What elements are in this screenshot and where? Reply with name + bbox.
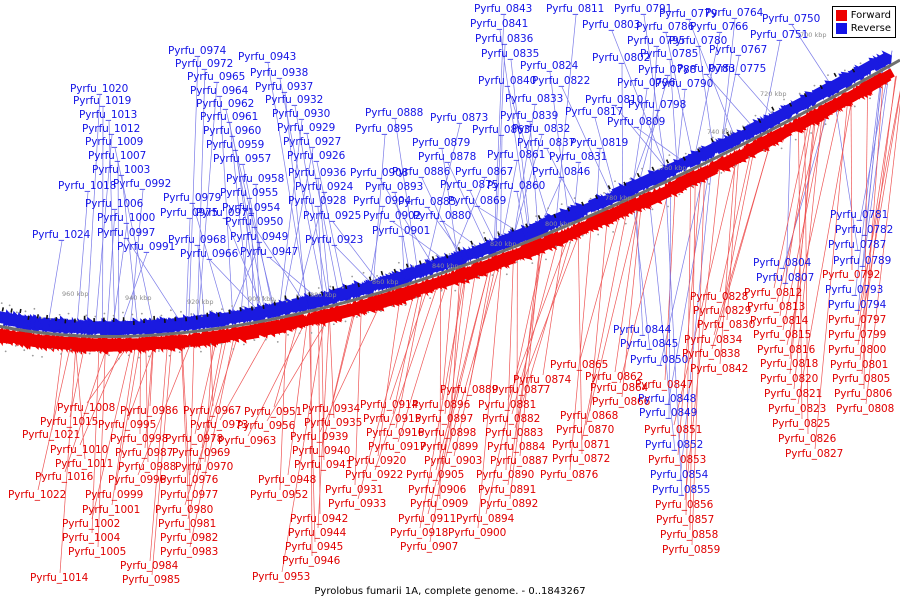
gene-label[interactable]: Pyrfu_0962 (196, 99, 254, 110)
minor-feature-dot (492, 274, 494, 276)
gene-label[interactable]: Pyrfu_0837 (517, 138, 575, 149)
minor-feature-dot (535, 215, 537, 217)
gene-label[interactable]: Pyrfu_0911 (398, 514, 456, 525)
gene-label[interactable]: Pyrfu_0935 (304, 418, 362, 429)
gene-label[interactable]: Pyrfu_0826 (778, 434, 836, 445)
gene-label[interactable]: Pyrfu_0929 (277, 123, 335, 134)
label-leader-line (402, 237, 404, 273)
gene-label[interactable]: Pyrfu_0979 (163, 193, 221, 204)
gene-label[interactable]: Pyrfu_0842 (690, 364, 748, 375)
gene-label[interactable]: Pyrfu_0895 (355, 124, 413, 135)
gene-label[interactable]: Pyrfu_0857 (656, 515, 714, 526)
minor-feature-dot (50, 318, 52, 320)
gene-label[interactable]: Pyrfu_1022 (8, 490, 66, 501)
gene-label[interactable]: Pyrfu_0882 (482, 414, 540, 425)
gene-label[interactable]: Pyrfu_0981 (158, 519, 216, 530)
gene-label[interactable]: Pyrfu_1024 (32, 230, 90, 241)
minor-feature-dot (89, 353, 91, 355)
label-leader-line (543, 240, 563, 375)
gene-label[interactable]: Pyrfu_0870 (556, 425, 614, 436)
gene-label[interactable]: Pyrfu_1021 (22, 430, 80, 441)
gene-label[interactable]: Pyrfu_0940 (292, 446, 350, 457)
gene-label[interactable]: Pyrfu_0898 (418, 428, 476, 439)
gene-label[interactable]: Pyrfu_0798 (628, 100, 686, 111)
gene-label[interactable]: Pyrfu_1011 (55, 459, 113, 470)
gene-label[interactable]: Pyrfu_0841 (470, 19, 528, 30)
gene-label[interactable]: Pyrfu_0970 (175, 462, 233, 473)
gene-label[interactable]: Pyrfu_0918 (390, 528, 448, 539)
gene-label[interactable]: Pyrfu_0782 (835, 225, 893, 236)
minor-feature-dot (678, 193, 680, 195)
gene-label[interactable]: Pyrfu_0805 (832, 374, 890, 385)
gene-label[interactable]: Pyrfu_0905 (406, 470, 464, 481)
gene-label[interactable]: Pyrfu_0987 (115, 448, 173, 459)
gene-label[interactable]: Pyrfu_0814 (750, 316, 808, 327)
gene-label[interactable]: Pyrfu_0808 (836, 404, 894, 415)
gene-label[interactable]: Pyrfu_0900 (448, 528, 506, 539)
gene-label[interactable]: Pyrfu_0839 (500, 111, 558, 122)
gene-label[interactable]: Pyrfu_0891 (478, 485, 536, 496)
gene-label[interactable]: Pyrfu_0831 (549, 152, 607, 163)
gene-label[interactable]: Pyrfu_0983 (160, 547, 218, 558)
label-leader-line (77, 192, 88, 324)
gene-label[interactable]: Pyrfu_0932 (265, 95, 323, 106)
backbone-tick-mark (285, 296, 286, 300)
gene-label[interactable]: Pyrfu_0794 (828, 300, 886, 311)
gene-label[interactable]: Pyrfu_0852 (645, 440, 703, 451)
minor-feature-dot (321, 327, 323, 329)
gene-label[interactable]: Pyrfu_0854 (650, 470, 708, 481)
gene-label[interactable]: Pyrfu_0956 (237, 421, 295, 432)
minor-feature-dot (795, 139, 797, 141)
gene-label[interactable]: Pyrfu_0952 (250, 490, 308, 501)
gene-label[interactable]: Pyrfu_0800 (828, 345, 886, 356)
gene-label[interactable]: Pyrfu_0925 (303, 211, 361, 222)
gene-label[interactable]: Pyrfu_0871 (552, 440, 610, 451)
minor-feature-dot (221, 308, 223, 310)
gene-label[interactable]: Pyrfu_0986 (120, 406, 178, 417)
minor-feature-dot (1, 302, 3, 304)
legend-reverse-label: Reverse (851, 23, 891, 35)
genome-map-canvas: 680 kbp700 kbp720 kbp740 kbp760 kbp780 k… (0, 0, 900, 600)
gene-label[interactable]: Pyrfu_0792 (822, 270, 880, 281)
gene-label[interactable]: Pyrfu_0803 (582, 20, 640, 31)
reverse-swatch-icon (836, 23, 847, 34)
gene-label[interactable]: Pyrfu_0966 (180, 249, 238, 260)
gene-label[interactable]: Pyrfu_0809 (607, 117, 665, 128)
gene-label[interactable]: Pyrfu_0928 (288, 196, 346, 207)
gene-label[interactable]: Pyrfu_0951 (244, 407, 302, 418)
gene-label[interactable]: Pyrfu_0823 (768, 404, 826, 415)
gene-label[interactable]: Pyrfu_0883 (485, 428, 543, 439)
gene-label[interactable]: Pyrfu_0931 (325, 485, 383, 496)
gene-label[interactable]: Pyrfu_0867 (455, 167, 513, 178)
minor-feature-dot (720, 172, 722, 174)
gene-label[interactable]: Pyrfu_0958 (226, 174, 284, 185)
gene-label[interactable]: Pyrfu_0793 (825, 285, 883, 296)
gene-label[interactable]: Pyrfu_0789 (833, 256, 891, 267)
gene-label[interactable]: Pyrfu_0853 (648, 455, 706, 466)
gene-label[interactable]: Pyrfu_0838 (682, 349, 740, 360)
gene-label[interactable]: Pyrfu_0781 (830, 210, 888, 221)
gene-label[interactable]: Pyrfu_0930 (272, 109, 330, 120)
gene-label[interactable]: Pyrfu_0750 (762, 14, 820, 25)
gene-label[interactable]: Pyrfu_0901 (372, 226, 430, 237)
gene-label[interactable]: Pyrfu_1004 (62, 533, 120, 544)
minor-feature-dot (98, 351, 100, 353)
gene-label[interactable]: Pyrfu_0968 (168, 235, 226, 246)
gene-label[interactable]: Pyrfu_1003 (92, 165, 150, 176)
gene-label[interactable]: Pyrfu_0840 (478, 76, 536, 87)
gene-label[interactable]: Pyrfu_0797 (828, 315, 886, 326)
gene-label[interactable]: Pyrfu_0974 (168, 46, 226, 57)
backbone-tick-mark (345, 285, 346, 289)
gene-label[interactable]: Pyrfu_0766 (690, 22, 748, 33)
axis-tick-label: 960 kbp (62, 290, 89, 298)
gene-label[interactable]: Pyrfu_0832 (512, 124, 570, 135)
gene-label[interactable]: Pyrfu_0851 (644, 425, 702, 436)
minor-feature-dot (465, 279, 467, 281)
gene-label[interactable]: Pyrfu_0861 (487, 150, 545, 161)
gene-label[interactable]: Pyrfu_0969 (172, 448, 230, 459)
gene-label[interactable]: Pyrfu_0957 (213, 154, 271, 165)
axis-tick-label: 780 kbp (605, 194, 632, 202)
gene-label[interactable]: Pyrfu_0996 (108, 475, 166, 486)
gene-label[interactable]: Pyrfu_0965 (187, 72, 245, 83)
minor-feature-dot (474, 245, 476, 247)
minor-feature-dot (854, 106, 856, 108)
backbone-tick-mark (381, 271, 382, 275)
gene-label[interactable]: Pyrfu_0924 (295, 182, 353, 193)
minor-feature-dot (625, 223, 627, 225)
gene-label[interactable]: Pyrfu_0988 (118, 462, 176, 473)
gene-label[interactable]: Pyrfu_0888 (365, 108, 423, 119)
gene-label[interactable]: Pyrfu_0787 (828, 240, 886, 251)
axis-tick-label: 840 kbp (432, 262, 459, 270)
minor-feature-dot (398, 262, 400, 264)
gene-label[interactable]: Pyrfu_0804 (753, 258, 811, 269)
gene-label[interactable]: Pyrfu_0998 (110, 434, 168, 445)
gene-label[interactable]: Pyrfu_0859 (662, 545, 720, 556)
gene-label[interactable]: Pyrfu_0846 (532, 167, 590, 178)
backbone-tick-mark (297, 296, 298, 300)
gene-label[interactable]: Pyrfu_0943 (238, 52, 296, 63)
gene-label[interactable]: Pyrfu_0827 (785, 449, 843, 460)
gene-label[interactable]: Pyrfu_0999 (85, 490, 143, 501)
label-leader-line (443, 222, 478, 248)
gene-label[interactable]: Pyrfu_0834 (684, 335, 742, 346)
gene-label[interactable]: Pyrfu_0884 (487, 442, 545, 453)
minor-feature-dot (483, 232, 485, 234)
gene-label[interactable]: Pyrfu_0836 (475, 34, 533, 45)
gene-label[interactable]: Pyrfu_0953 (252, 572, 310, 583)
minor-feature-dot (122, 312, 124, 314)
minor-feature-dot (735, 165, 737, 167)
minor-feature-dot (454, 290, 456, 292)
gene-label[interactable]: Pyrfu_0950 (225, 217, 283, 228)
minor-feature-dot (179, 351, 181, 353)
minor-feature-dot (506, 273, 508, 275)
gene-label[interactable]: Pyrfu_0869 (448, 196, 506, 207)
gene-label[interactable]: Pyrfu_0824 (520, 61, 578, 72)
gene-label[interactable]: Pyrfu_0847 (635, 380, 693, 391)
gene-label[interactable]: Pyrfu_0801 (830, 360, 888, 371)
gene-label[interactable]: Pyrfu_0991 (117, 242, 175, 253)
gene-label[interactable]: Pyrfu_0942 (290, 514, 348, 525)
gene-label[interactable]: Pyrfu_0955 (220, 188, 278, 199)
gene-label[interactable]: Pyrfu_1015 (40, 417, 98, 428)
gene-label[interactable]: Pyrfu_0923 (305, 235, 363, 246)
gene-label[interactable]: Pyrfu_0828 (690, 292, 748, 303)
minor-feature-dot (376, 275, 378, 277)
minor-feature-dot (274, 300, 276, 302)
minor-feature-dot (94, 316, 96, 318)
gene-label[interactable]: Pyrfu_0934 (302, 404, 360, 415)
gene-label[interactable]: Pyrfu_0977 (160, 490, 218, 501)
minor-feature-dot (612, 231, 614, 233)
gene-label[interactable]: Pyrfu_0835 (481, 49, 539, 60)
gene-label[interactable]: Pyrfu_0880 (413, 211, 471, 222)
gene-label[interactable]: Pyrfu_0976 (160, 475, 218, 486)
gene-label[interactable]: Pyrfu_1009 (85, 137, 143, 148)
minor-feature-dot (531, 262, 533, 264)
gene-label[interactable]: Pyrfu_1018 (58, 181, 116, 192)
gene-label[interactable]: Pyrfu_0963 (218, 436, 276, 447)
minor-feature-dot (561, 203, 563, 205)
backbone-tick-mark (240, 307, 241, 311)
gene-label[interactable]: Pyrfu_0764 (705, 8, 763, 19)
gene-label[interactable]: Pyrfu_0917 (368, 442, 426, 453)
gene-label[interactable]: Pyrfu_0995 (98, 420, 156, 431)
gene-label[interactable]: Pyrfu_0978 (165, 434, 223, 445)
backbone-tick-mark (772, 107, 774, 111)
minor-feature-dot (286, 301, 288, 303)
minor-feature-dot (614, 180, 616, 182)
gene-label[interactable]: Pyrfu_1019 (73, 96, 131, 107)
gene-label[interactable]: Pyrfu_0865 (550, 360, 608, 371)
gene-label[interactable]: Pyrfu_0873 (430, 113, 488, 124)
gene-label[interactable]: Pyrfu_0920 (348, 456, 406, 467)
gene-label[interactable]: Pyrfu_1002 (62, 519, 120, 530)
gene-label[interactable]: Pyrfu_0849 (639, 408, 697, 419)
gene-label[interactable]: Pyrfu_0816 (757, 345, 815, 356)
gene-label[interactable]: Pyrfu_0886 (392, 167, 450, 178)
minor-feature-dot (41, 317, 43, 319)
gene-label[interactable]: Pyrfu_0877 (492, 385, 550, 396)
gene-label[interactable]: Pyrfu_0897 (415, 414, 473, 425)
gene-label[interactable]: Pyrfu_0868 (560, 411, 618, 422)
gene-label[interactable]: Pyrfu_0790 (655, 79, 713, 90)
gene-label[interactable]: Pyrfu_0939 (290, 432, 348, 443)
gene-label[interactable]: Pyrfu_1010 (50, 445, 108, 456)
figure-caption: Pyrolobus fumarii 1A, complete genome. -… (0, 586, 900, 597)
gene-label[interactable]: Pyrfu_0889 (440, 385, 498, 396)
minor-feature-dot (333, 323, 335, 325)
gene-label[interactable]: Pyrfu_0949 (230, 232, 288, 243)
gene-label[interactable]: Pyrfu_0992 (113, 179, 171, 190)
gene-label[interactable]: Pyrfu_0887 (490, 456, 548, 467)
minor-feature-dot (15, 345, 17, 347)
gene-label[interactable]: Pyrfu_0959 (206, 140, 264, 151)
gene-label[interactable]: Pyrfu_0984 (120, 561, 178, 572)
minor-feature-dot (169, 355, 171, 357)
gene-label[interactable]: Pyrfu_0936 (288, 168, 346, 179)
minor-feature-dot (277, 341, 279, 343)
gene-label[interactable]: Pyrfu_0944 (288, 528, 346, 539)
gene-label[interactable]: Pyrfu_0813 (747, 302, 805, 313)
gene-label[interactable]: Pyrfu_0806 (834, 389, 892, 400)
gene-label[interactable]: Pyrfu_0967 (183, 406, 241, 417)
gene-label[interactable]: Pyrfu_0872 (552, 454, 610, 465)
legend-row-reverse: Reverse (836, 22, 891, 35)
minor-feature-dot (345, 321, 347, 323)
gene-label[interactable]: Pyrfu_1008 (57, 403, 115, 414)
gene-label[interactable]: Pyrfu_0980 (155, 505, 213, 516)
gene-label[interactable]: Pyrfu_0819 (570, 138, 628, 149)
minor-feature-dot (329, 286, 331, 288)
gene-label[interactable]: Pyrfu_0820 (760, 374, 818, 385)
gene-label[interactable]: Pyrfu_0914 (360, 400, 418, 411)
gene-label[interactable]: Pyrfu_0881 (478, 400, 536, 411)
label-leader-line (720, 154, 750, 292)
minor-feature-dot (712, 137, 714, 139)
gene-label[interactable]: Pyrfu_0818 (760, 359, 818, 370)
gene-label[interactable]: Pyrfu_0844 (613, 325, 671, 336)
gene-label[interactable]: Pyrfu_0822 (532, 76, 590, 87)
strand-legend: Forward Reverse (832, 6, 896, 38)
gene-label[interactable]: Pyrfu_0960 (203, 126, 261, 137)
gene-label[interactable]: Pyrfu_0811 (546, 4, 604, 15)
gene-label[interactable]: Pyrfu_0941 (294, 460, 352, 471)
gene-label[interactable]: Pyrfu_0845 (620, 339, 678, 350)
minor-feature-dot (160, 315, 162, 317)
axis-tick-label: 800 kbp (545, 220, 572, 228)
minor-feature-dot (318, 287, 320, 289)
minor-feature-dot (459, 242, 461, 244)
gene-label[interactable]: Pyrfu_0946 (282, 556, 340, 567)
gene-label[interactable]: Pyrfu_1016 (35, 472, 93, 483)
gene-label[interactable]: Pyrfu_0947 (240, 247, 298, 258)
gene-label[interactable]: Pyrfu_0915 (363, 414, 421, 425)
gene-label[interactable]: Pyrfu_0903 (424, 456, 482, 467)
gene-label[interactable]: Pyrfu_0767 (709, 45, 767, 56)
gene-label[interactable]: Pyrfu_0899 (420, 442, 478, 453)
gene-label[interactable]: Pyrfu_0945 (285, 542, 343, 553)
gene-label[interactable]: Pyrfu_0926 (287, 151, 345, 162)
gene-label[interactable]: Pyrfu_0964 (190, 86, 248, 97)
gene-label[interactable]: Pyrfu_0812 (744, 288, 802, 299)
gene-label[interactable]: Pyrfu_0879 (412, 138, 470, 149)
minor-feature-dot (233, 348, 235, 350)
minor-feature-dot (810, 132, 812, 134)
gene-label[interactable]: Pyrfu_0896 (412, 400, 470, 411)
gene-label[interactable]: Pyrfu_0799 (828, 330, 886, 341)
gene-label[interactable]: Pyrfu_1014 (30, 573, 88, 584)
minor-feature-dot (296, 294, 298, 296)
gene-label[interactable]: Pyrfu_1012 (82, 124, 140, 135)
gene-label[interactable]: Pyrfu_0892 (480, 499, 538, 510)
minor-feature-dot (424, 262, 426, 264)
gene-label[interactable]: Pyrfu_0833 (505, 94, 563, 105)
minor-feature-dot (641, 168, 643, 170)
minor-feature-dot (771, 111, 773, 113)
minor-feature-dot (243, 344, 245, 346)
gene-label[interactable]: Pyrfu_0843 (474, 4, 532, 15)
gene-label[interactable]: Pyrfu_1000 (97, 213, 155, 224)
gene-label[interactable]: Pyrfu_0985 (122, 575, 180, 586)
gene-label[interactable]: Pyrfu_0850 (630, 355, 688, 366)
gene-label[interactable]: Pyrfu_0927 (283, 137, 341, 148)
gene-label[interactable]: Pyrfu_0786 (636, 22, 694, 33)
gene-label[interactable]: Pyrfu_0815 (753, 330, 811, 341)
gene-label[interactable]: Pyrfu_0830 (697, 320, 755, 331)
gene-label[interactable]: Pyrfu_0807 (756, 273, 814, 284)
gene-label[interactable]: Pyrfu_0821 (764, 389, 822, 400)
gene-label[interactable]: Pyrfu_0894 (456, 514, 514, 525)
gene-label[interactable]: Pyrfu_0878 (418, 152, 476, 163)
gene-label[interactable]: Pyrfu_0855 (652, 485, 710, 496)
gene-label[interactable]: Pyrfu_0890 (476, 470, 534, 481)
gene-label[interactable]: Pyrfu_1005 (68, 547, 126, 558)
gene-label[interactable]: Pyrfu_0848 (638, 394, 696, 405)
gene-label[interactable]: Pyrfu_0906 (408, 485, 466, 496)
backbone-tick-mark (20, 309, 21, 313)
gene-label[interactable]: Pyrfu_0938 (250, 68, 308, 79)
backbone-tick-mark (2, 307, 3, 311)
minor-feature-dot (363, 272, 365, 274)
minor-feature-dot (131, 314, 133, 316)
minor-feature-dot (158, 350, 160, 352)
axis-tick-label: 900 kbp (248, 295, 275, 303)
gene-label[interactable]: Pyrfu_0785 (640, 49, 698, 60)
backbone-tick-mark (207, 313, 208, 317)
gene-label[interactable]: Pyrfu_0907 (400, 542, 458, 553)
minor-feature-dot (311, 332, 313, 334)
gene-label[interactable]: Pyrfu_0858 (660, 530, 718, 541)
minor-feature-dot (25, 310, 27, 312)
label-leader-line (121, 253, 147, 324)
gene-label[interactable]: Pyrfu_0856 (655, 500, 713, 511)
minor-feature-dot (367, 311, 369, 313)
gene-label[interactable]: Pyrfu_0876 (540, 470, 598, 481)
gene-label[interactable]: Pyrfu_0961 (200, 112, 258, 123)
backbone-tick-mark (420, 261, 421, 265)
gene-label[interactable]: Pyrfu_0933 (328, 499, 386, 510)
gene-label[interactable]: Pyrfu_0916 (366, 428, 424, 439)
gene-label[interactable]: Pyrfu_0997 (97, 228, 155, 239)
minor-feature-dot (253, 307, 255, 309)
gene-label[interactable]: Pyrfu_1001 (82, 505, 140, 516)
gene-label[interactable]: Pyrfu_0751 (750, 30, 808, 41)
gene-label[interactable]: Pyrfu_0893 (365, 182, 423, 193)
gene-label[interactable]: Pyrfu_0860 (487, 181, 545, 192)
gene-label[interactable]: Pyrfu_0948 (258, 475, 316, 486)
gene-label[interactable]: Pyrfu_0783 (677, 64, 735, 75)
gene-label[interactable]: Pyrfu_1013 (79, 110, 137, 121)
minor-feature-dot (429, 297, 431, 299)
gene-label[interactable]: Pyrfu_1020 (70, 84, 128, 95)
gene-label[interactable]: Pyrfu_0972 (175, 59, 233, 70)
gene-label[interactable]: Pyrfu_0937 (255, 82, 313, 93)
gene-label[interactable]: Pyrfu_0982 (160, 533, 218, 544)
gene-label[interactable]: Pyrfu_1007 (88, 151, 146, 162)
gene-label[interactable]: Pyrfu_0829 (693, 306, 751, 317)
gene-label[interactable]: Pyrfu_0922 (345, 470, 403, 481)
gene-label[interactable]: Pyrfu_0825 (772, 419, 830, 430)
minor-feature-dot (68, 313, 70, 315)
gene-label[interactable]: Pyrfu_0909 (410, 499, 468, 510)
gene-label[interactable]: Pyrfu_1006 (85, 199, 143, 210)
